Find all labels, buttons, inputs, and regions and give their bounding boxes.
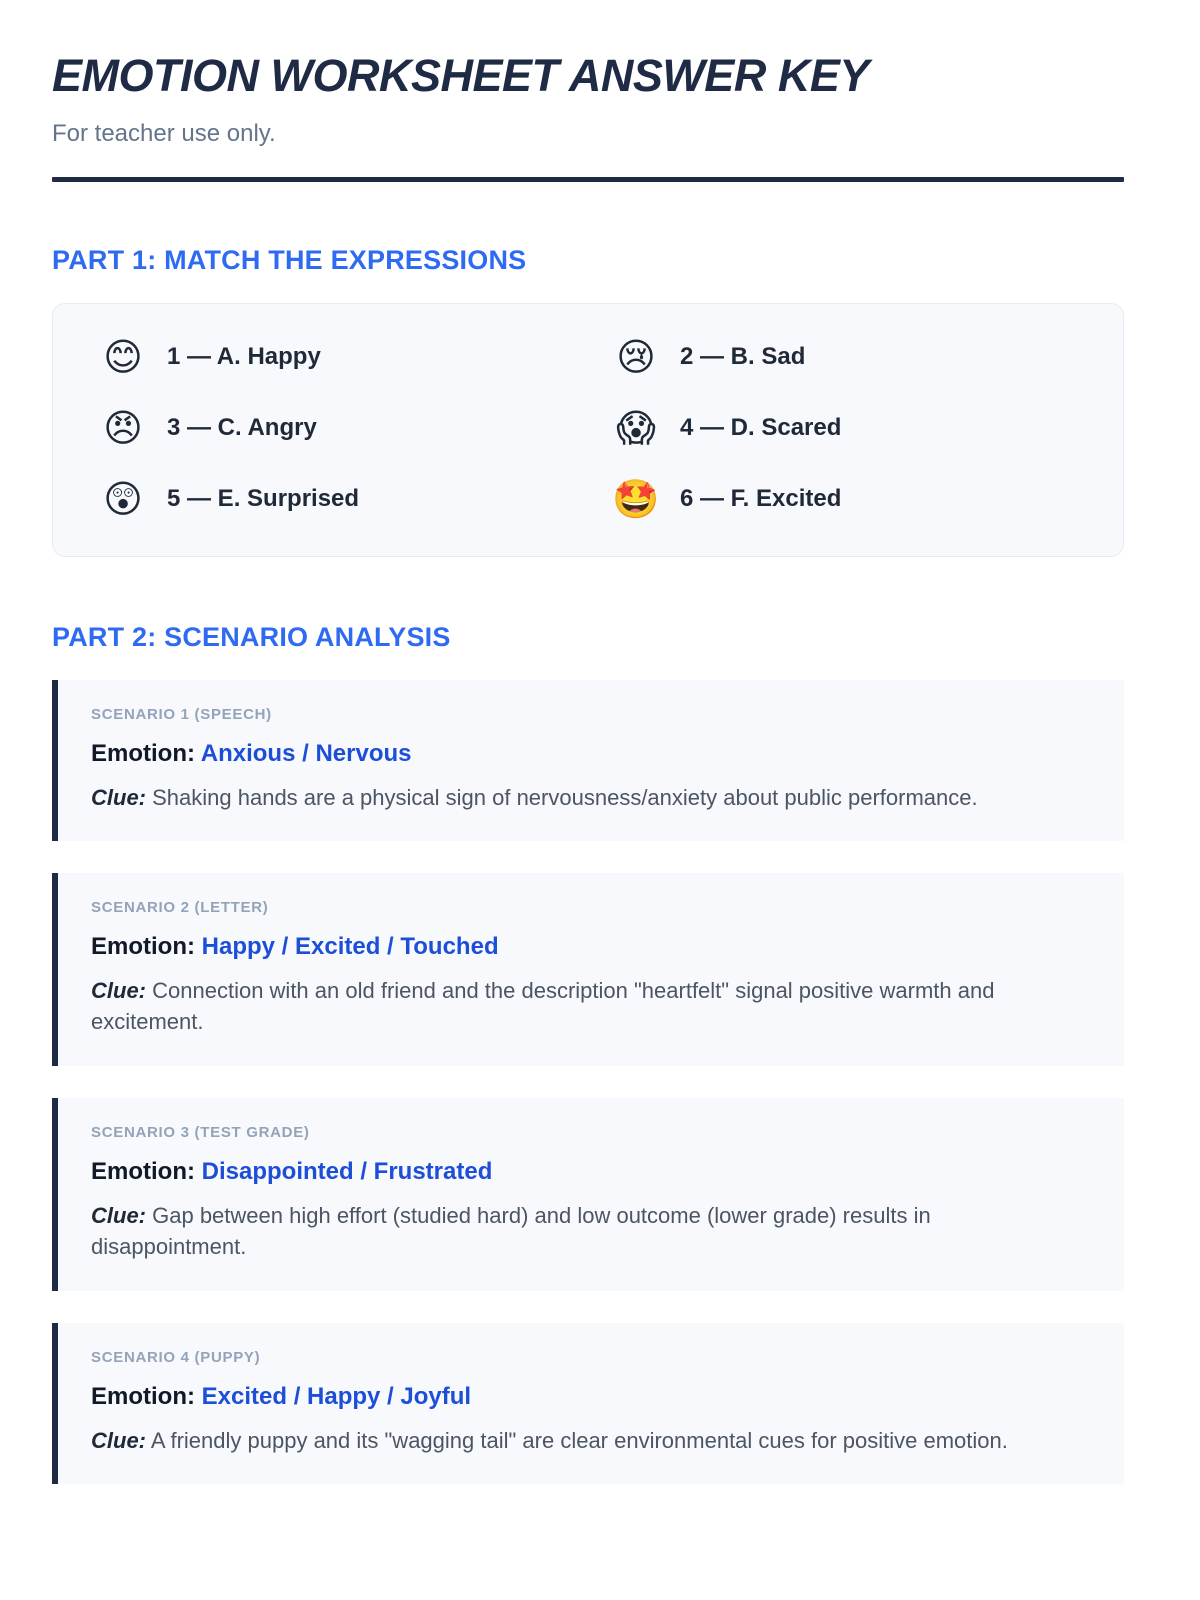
match-pairs-grid: 😊 1 — A. Happy 😢 2 — B. Sad 😠 3 — C. Ang… xyxy=(91,334,1085,522)
clue-text: Gap between high effort (studied hard) a… xyxy=(91,1203,931,1259)
scenario-tag: Scenario 1 (Speech) xyxy=(91,706,1090,724)
list-item: 😠 3 — C. Angry xyxy=(91,405,572,451)
page-subtitle: For teacher use only. xyxy=(52,118,1124,149)
scenario-clue-line: Clue: Shaking hands are a physical sign … xyxy=(91,782,1090,813)
scenario-tag: Scenario 3 (Test Grade) xyxy=(91,1124,1090,1142)
list-item: 😢 2 — B. Sad xyxy=(604,334,1085,380)
clue-label: Clue: xyxy=(91,785,146,810)
emotion-answer: Anxious / Nervous xyxy=(201,740,412,767)
scenario-emotion-line: Emotion: Happy / Excited / Touched xyxy=(91,932,1090,962)
scenario-emotion-line: Emotion: Excited / Happy / Joyful xyxy=(91,1382,1090,1412)
match-expressions-card: 😊 1 — A. Happy 😢 2 — B. Sad 😠 3 — C. Ang… xyxy=(52,303,1124,557)
scenario-block: Scenario 4 (Puppy) Emotion: Excited / Ha… xyxy=(52,1323,1124,1484)
emotion-label: Emotion: xyxy=(91,1383,195,1410)
part-1-heading: Part 1: Match the Expressions xyxy=(52,244,1124,276)
match-pair-label: 2 — B. Sad xyxy=(680,343,805,371)
scenario-tag: Scenario 2 (Letter) xyxy=(91,899,1090,917)
smiling-face-emoji: 😊 xyxy=(99,334,147,380)
clue-label: Clue: xyxy=(91,1203,146,1228)
emotion-label: Emotion: xyxy=(91,740,195,767)
astonished-face-emoji: 😲 xyxy=(99,476,147,522)
list-item: 😊 1 — A. Happy xyxy=(91,334,572,380)
scenario-block: Scenario 1 (Speech) Emotion: Anxious / N… xyxy=(52,680,1124,841)
match-pair-label: 6 — F. Excited xyxy=(680,485,841,513)
crying-face-emoji: 😢 xyxy=(612,334,660,380)
emotion-answer: Excited / Happy / Joyful xyxy=(202,1383,471,1410)
emotion-label: Emotion: xyxy=(91,1158,195,1185)
scenario-clue-line: Clue: A friendly puppy and its "wagging … xyxy=(91,1425,1090,1456)
scenario-emotion-line: Emotion: Anxious / Nervous xyxy=(91,739,1090,769)
list-item: 🤩 6 — F. Excited xyxy=(604,476,1085,522)
match-pair-label: 5 — E. Surprised xyxy=(167,485,359,513)
scenario-clue-line: Clue: Gap between high effort (studied h… xyxy=(91,1200,1090,1263)
star-struck-emoji: 🤩 xyxy=(612,476,660,522)
emotion-label: Emotion: xyxy=(91,933,195,960)
answer-key-page: Emotion Worksheet Answer Key For teacher… xyxy=(0,0,1200,1484)
clue-text: A friendly puppy and its "wagging tail" … xyxy=(151,1428,1008,1453)
emotion-answer: Happy / Excited / Touched xyxy=(202,933,499,960)
scenario-tag: Scenario 4 (Puppy) xyxy=(91,1349,1090,1367)
match-pair-label: 4 — D. Scared xyxy=(680,414,841,442)
match-pair-label: 3 — C. Angry xyxy=(167,414,317,442)
clue-text: Shaking hands are a physical sign of ner… xyxy=(152,785,978,810)
page-title: Emotion Worksheet Answer Key xyxy=(52,52,1124,101)
scenario-list: Scenario 1 (Speech) Emotion: Anxious / N… xyxy=(52,680,1124,1485)
list-item: 😱 4 — D. Scared xyxy=(604,405,1085,451)
list-item: 😲 5 — E. Surprised xyxy=(91,476,572,522)
part-2-heading: Part 2: Scenario Analysis xyxy=(52,621,1124,653)
emotion-answer: Disappointed / Frustrated xyxy=(202,1158,493,1185)
screaming-in-fear-emoji: 😱 xyxy=(612,405,660,451)
scenario-block: Scenario 2 (Letter) Emotion: Happy / Exc… xyxy=(52,873,1124,1066)
header-divider xyxy=(52,177,1124,182)
clue-label: Clue: xyxy=(91,978,146,1003)
angry-face-emoji: 😠 xyxy=(99,405,147,451)
clue-text: Connection with an old friend and the de… xyxy=(91,978,994,1034)
clue-label: Clue: xyxy=(91,1428,146,1453)
scenario-clue-line: Clue: Connection with an old friend and … xyxy=(91,975,1090,1038)
match-pair-label: 1 — A. Happy xyxy=(167,343,321,371)
scenario-block: Scenario 3 (Test Grade) Emotion: Disappo… xyxy=(52,1098,1124,1291)
scenario-emotion-line: Emotion: Disappointed / Frustrated xyxy=(91,1157,1090,1187)
